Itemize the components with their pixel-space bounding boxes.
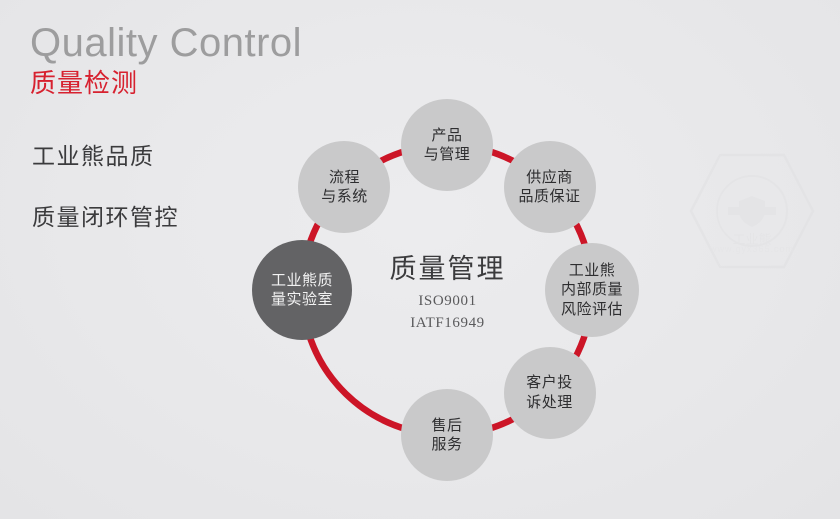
watermark-url: www.gyx365.com (709, 244, 794, 254)
ring-node-after-sales[interactable]: 售后 服务 (401, 389, 493, 481)
subtitle-line-1: 工业熊品质 (32, 137, 155, 171)
slide-canvas: Quality Control 质量检测 工业熊品质 质量闭环管控 产品 与管理… (0, 0, 840, 519)
ring-node-label: 售后 服务 (431, 416, 462, 454)
ring-node-label: 客户投 诉处理 (526, 373, 573, 411)
watermark-logo: 工业熊 www.gyx365.com (688, 152, 816, 270)
shield-icon (739, 196, 765, 227)
center-title: 质量管理 (355, 253, 540, 287)
hexagon-badge-icon: 工业熊 www.gyx365.com (688, 152, 816, 270)
watermark-brand: 工业熊 (732, 232, 771, 247)
ring-node-quality-lab[interactable]: 工业熊质 量实验室 (252, 240, 352, 340)
ring-node-label: 工业熊 内部质量 风险评估 (561, 261, 623, 319)
ring-node-label: 产品 与管理 (424, 126, 471, 164)
ring-node-label: 流程 与系统 (321, 168, 368, 206)
center-caption: 质量管理 ISO9001 IATF16949 (355, 253, 540, 335)
wing-icon (728, 207, 776, 215)
ring-node-customer-complaint[interactable]: 客户投 诉处理 (504, 347, 596, 439)
standard-iatf16949: IATF16949 (355, 312, 540, 335)
ring-node-internal-risk[interactable]: 工业熊 内部质量 风险评估 (545, 243, 639, 337)
ring-connector-arc (309, 333, 408, 429)
ring-node-label: 供应商 品质保证 (519, 168, 581, 206)
title-english: Quality Control (30, 22, 350, 64)
standard-iso9001: ISO9001 (355, 290, 540, 313)
badge-circle (717, 176, 787, 246)
ring-node-product-management[interactable]: 产品 与管理 (401, 99, 493, 191)
ring-node-supplier-quality[interactable]: 供应商 品质保证 (504, 141, 596, 233)
subtitle-line-2: 质量闭环管控 (32, 198, 179, 232)
hexagon-outline (691, 155, 813, 267)
ring-node-label: 工业熊质 量实验室 (271, 271, 333, 309)
